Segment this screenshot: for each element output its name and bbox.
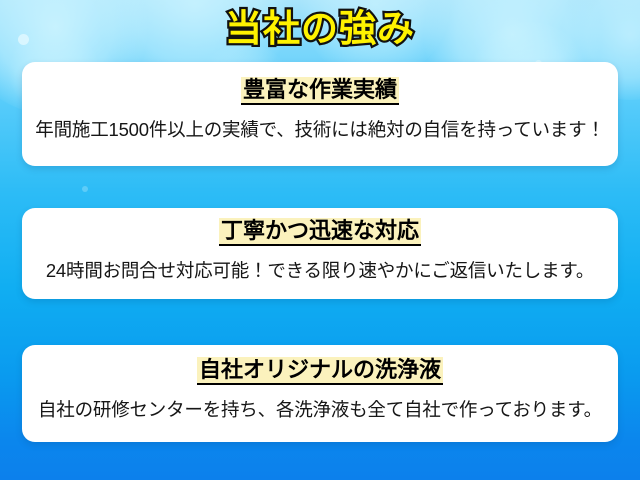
strength-card-heading: 丁寧かつ迅速な対応	[22, 216, 618, 246]
strength-card: 自社オリジナルの洗浄液 自社の研修センターを持ち、各洗浄液も全て自社で作っており…	[22, 345, 618, 442]
strength-card-heading: 自社オリジナルの洗浄液	[22, 355, 618, 385]
strength-card-heading-text: 丁寧かつ迅速な対応	[219, 218, 421, 246]
strength-card-body: 24時間お問合せ対応可能！できる限り速やかにご返信いたします。	[22, 258, 618, 284]
strength-card-heading-text: 豊富な作業実績	[241, 77, 399, 105]
strength-card: 丁寧かつ迅速な対応 24時間お問合せ対応可能！できる限り速やかにご返信いたします…	[22, 208, 618, 299]
page-title: 当社の強み	[0, 6, 640, 52]
strength-card: 豊富な作業実績 年間施工1500件以上の実績で、技術には絶対の自信を持っています…	[22, 62, 618, 166]
strength-card-body: 年間施工1500件以上の実績で、技術には絶対の自信を持っています！	[22, 117, 618, 143]
strength-card-body: 自社の研修センターを持ち、各洗浄液も全て自社で作っております。	[22, 397, 618, 423]
sparkle-icon	[82, 186, 88, 192]
strength-card-heading: 豊富な作業実績	[22, 75, 618, 105]
strength-card-heading-text: 自社オリジナルの洗浄液	[197, 357, 443, 385]
slide-canvas: 当社の強み 豊富な作業実績 年間施工1500件以上の実績で、技術には絶対の自信を…	[0, 0, 640, 480]
